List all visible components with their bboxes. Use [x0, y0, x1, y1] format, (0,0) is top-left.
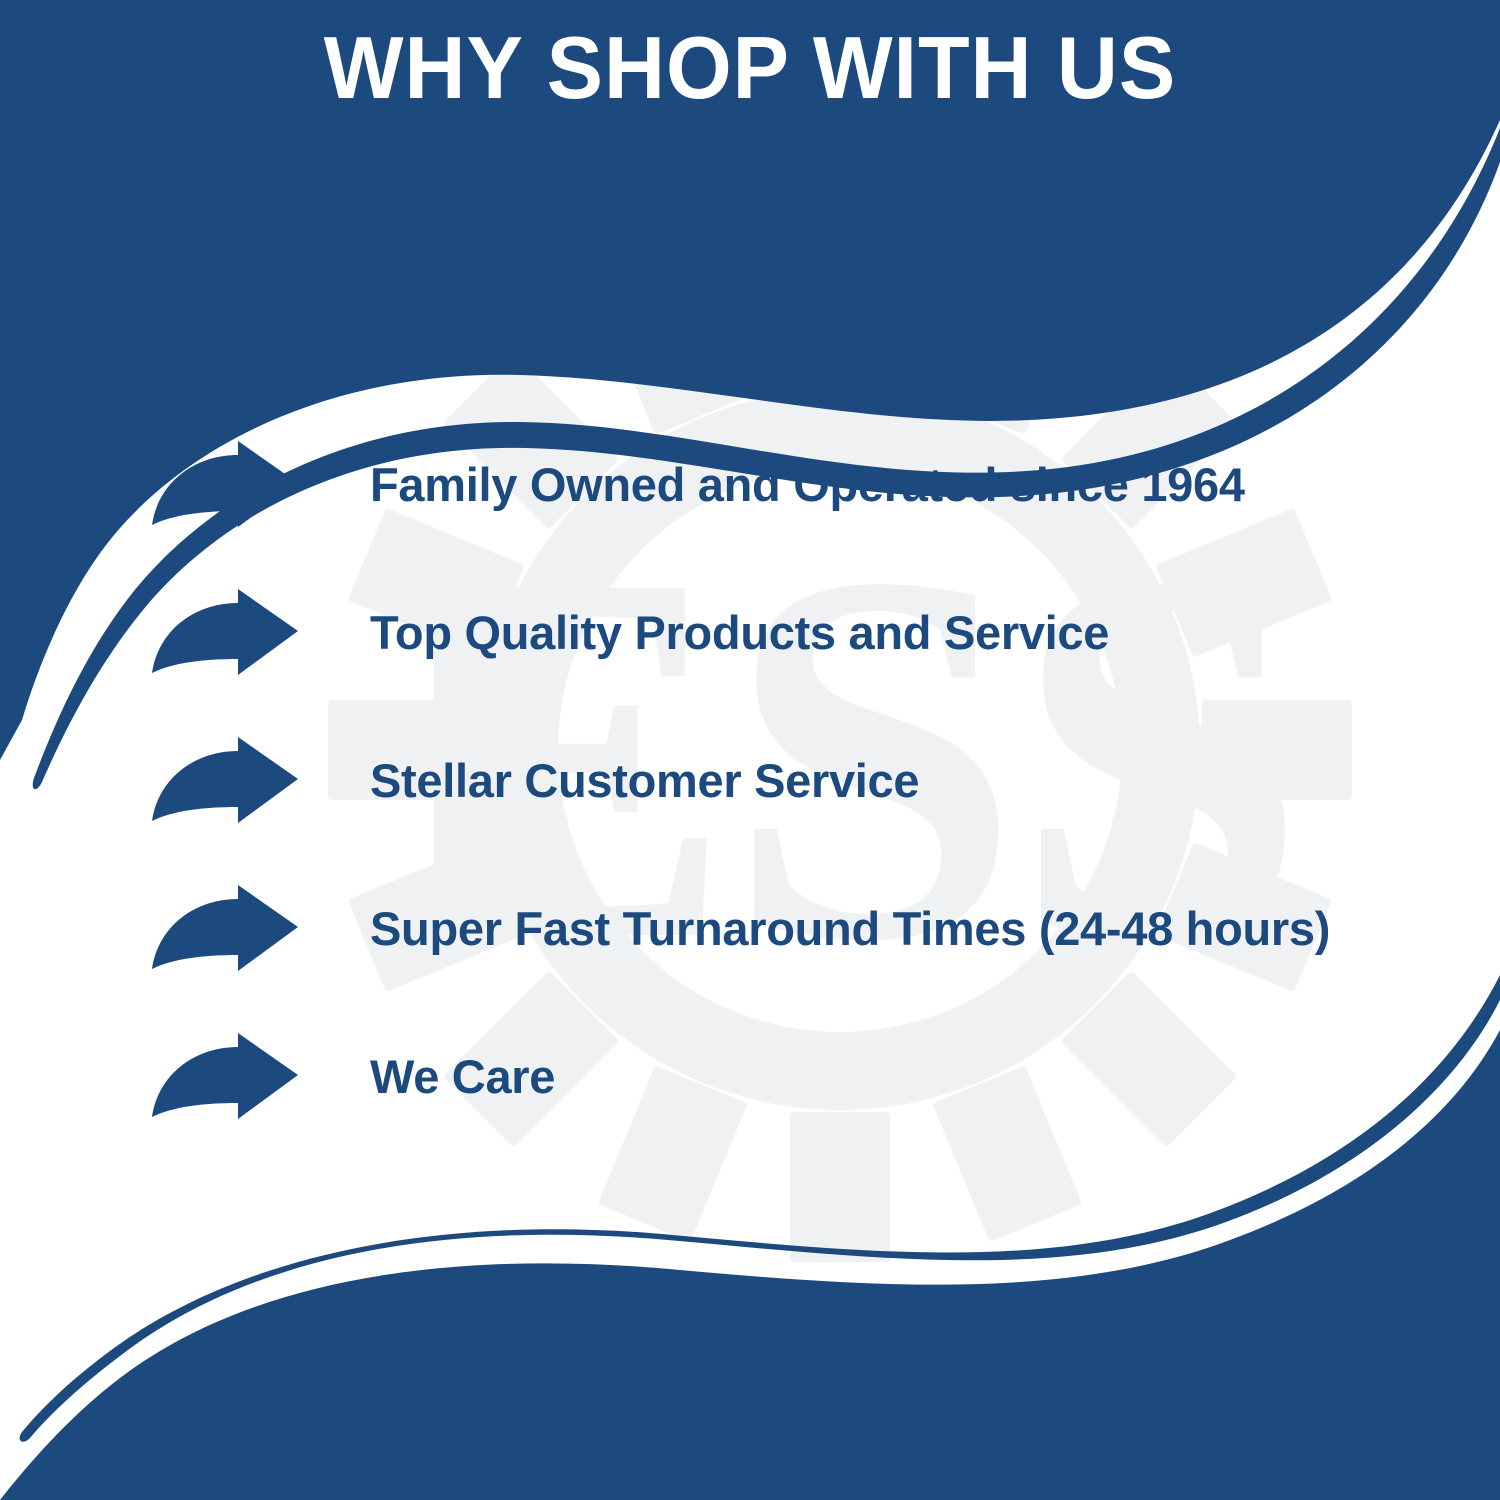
list-item-label: Super Fast Turnaround Times (24-48 hours… [370, 903, 1450, 955]
list-item-label: Stellar Customer Service [370, 755, 1450, 807]
curved-arrow-right-icon [150, 439, 300, 531]
list-item: We Care [150, 1029, 1450, 1125]
list-item-label: Top Quality Products and Service [370, 607, 1450, 659]
promo-graphic: ESS WHY SHOP WITH US Family Owned and Op… [0, 0, 1500, 1500]
curved-arrow-right-icon [150, 883, 300, 975]
list-item-label: Family Owned and Operated since 1964 [370, 459, 1450, 511]
curved-arrow-right-icon [150, 735, 300, 827]
benefits-list: Family Owned and Operated since 1964 Top… [150, 437, 1450, 1125]
curved-arrow-right-icon [150, 1031, 300, 1123]
list-item: Stellar Customer Service [150, 733, 1450, 829]
list-item: Family Owned and Operated since 1964 [150, 437, 1450, 533]
list-item: Super Fast Turnaround Times (24-48 hours… [150, 881, 1450, 977]
page-title: WHY SHOP WITH US [30, 22, 1470, 114]
curved-arrow-right-icon [150, 587, 300, 679]
list-item-label: We Care [370, 1051, 1450, 1103]
list-item: Top Quality Products and Service [150, 585, 1450, 681]
